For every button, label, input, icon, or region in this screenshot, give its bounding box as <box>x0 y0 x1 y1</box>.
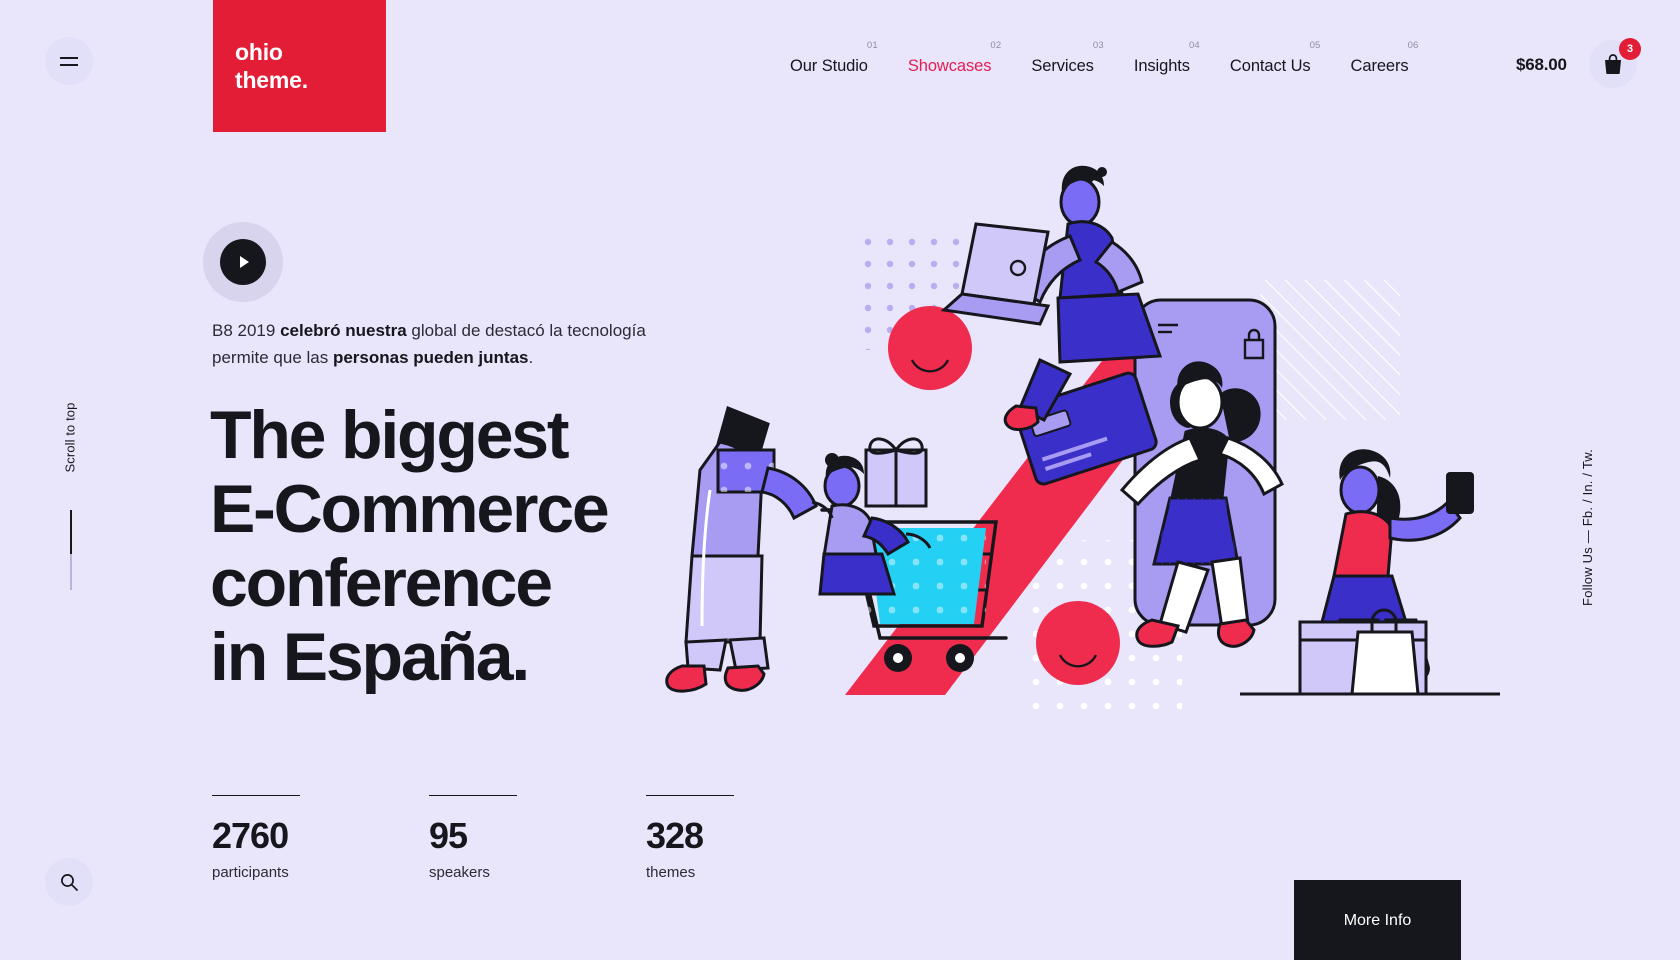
logo-line-2: theme. <box>235 67 308 93</box>
stat-themes: 328 themes <box>646 795 863 881</box>
hamburger-icon-bar <box>60 57 78 59</box>
nav-number: 06 <box>1408 40 1419 51</box>
headline-line-4: in España. <box>210 619 528 695</box>
shopping-bag-icon <box>1603 53 1623 75</box>
nav-label: Contact Us <box>1230 57 1311 76</box>
nav-label: Our Studio <box>790 57 868 76</box>
stat-value: 2760 <box>212 818 429 854</box>
intro-bold-1: celebró nuestra <box>280 321 407 340</box>
nav-number: 03 <box>1093 40 1104 51</box>
hamburger-icon-bar <box>60 64 78 66</box>
intro-prefix: B8 2019 <box>212 321 280 340</box>
hero-stats: 2760 participants 95 speakers 328 themes <box>212 795 863 881</box>
stat-divider <box>646 795 734 796</box>
red-circle-top <box>888 306 972 390</box>
cart-button[interactable]: 3 <box>1589 40 1637 88</box>
nav-number: 04 <box>1189 40 1200 51</box>
red-circle-bottom <box>1036 601 1120 685</box>
nav-item-insights[interactable]: 04 Insights <box>1114 40 1210 76</box>
stat-label: speakers <box>429 864 646 881</box>
headline-line-3: conference <box>210 545 551 621</box>
site-header: ohio theme. 01 Our Studio 02 Showcases 0… <box>0 0 1680 132</box>
stat-label: themes <box>646 864 863 881</box>
hamburger-menu-button[interactable] <box>45 37 93 85</box>
stat-divider <box>212 795 300 796</box>
logo[interactable]: ohio theme. <box>213 0 386 132</box>
nav-item-careers[interactable]: 06 Careers <box>1331 40 1429 76</box>
nav-item-contact-us[interactable]: 05 Contact Us <box>1210 40 1331 76</box>
stat-participants: 2760 participants <box>212 795 429 881</box>
more-info-button[interactable]: More Info <box>1294 880 1461 960</box>
search-icon <box>59 872 79 892</box>
gift-box <box>866 439 926 506</box>
scroll-to-top-rail[interactable]: Scroll to top <box>55 430 85 630</box>
follow-us-rail[interactable]: Follow Us — Fb. / In. / Tw. <box>1509 520 1666 535</box>
hero-intro-paragraph: B8 2019 celebró nuestra global de destac… <box>212 318 692 372</box>
nav-number: 02 <box>990 40 1001 51</box>
play-video-button[interactable] <box>203 222 283 302</box>
headline-line-1: The biggest <box>210 397 567 473</box>
stat-speakers: 95 speakers <box>429 795 646 881</box>
nav-label: Insights <box>1134 57 1190 76</box>
intro-bold-2: personas pueden juntas <box>333 348 529 367</box>
nav-label: Careers <box>1351 57 1409 76</box>
nav-label: Showcases <box>908 57 991 76</box>
stat-label: participants <box>212 864 429 881</box>
play-icon <box>240 256 249 268</box>
page-title: The biggest E-Commerce conference in Esp… <box>210 398 850 694</box>
scroll-progress-line <box>70 510 72 590</box>
main-navigation: 01 Our Studio 02 Showcases 03 Services 0… <box>770 40 1429 76</box>
search-button[interactable] <box>45 858 93 906</box>
stat-value: 95 <box>429 818 646 854</box>
cart-total-price: $68.00 <box>1516 55 1567 75</box>
nav-item-our-studio[interactable]: 01 Our Studio <box>770 40 888 76</box>
stat-divider <box>429 795 517 796</box>
headline-line-2: E-Commerce <box>210 471 608 547</box>
nav-number: 01 <box>867 40 878 51</box>
nav-number: 05 <box>1310 40 1321 51</box>
follow-us-label: Follow Us — Fb. / In. / Tw. <box>1580 449 1595 606</box>
intro-suffix: . <box>529 348 534 367</box>
play-button-inner <box>220 239 266 285</box>
nav-item-services[interactable]: 03 Services <box>1011 40 1113 76</box>
stat-value: 328 <box>646 818 863 854</box>
nav-label: Services <box>1031 57 1093 76</box>
hatch-pattern <box>1260 280 1400 420</box>
nav-item-showcases[interactable]: 02 Showcases <box>888 40 1011 76</box>
logo-line-1: ohio <box>235 39 283 65</box>
scroll-to-top-label: Scroll to top <box>63 390 78 486</box>
cart-badge: 3 <box>1619 38 1641 60</box>
